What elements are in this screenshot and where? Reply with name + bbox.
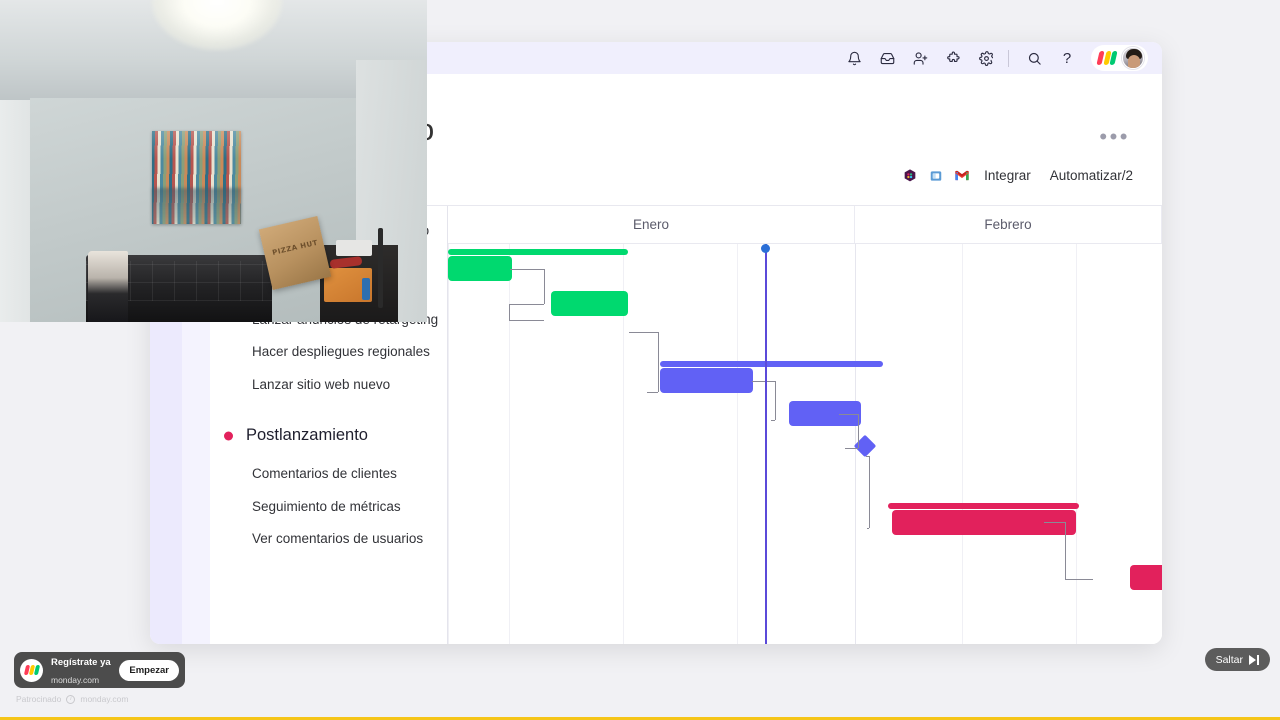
sponsored-label-row: Patrocinado i monday.com: [16, 694, 128, 704]
gantt-group-bar[interactable]: [660, 361, 883, 367]
inbox-icon[interactable]: [872, 43, 902, 73]
gmail-integration-icon[interactable]: [953, 167, 970, 184]
task-label: Comentarios de clientes: [252, 466, 397, 481]
gantt-dependency-line: [869, 456, 870, 528]
gantt-dependency-line: [771, 420, 775, 421]
help-icon[interactable]: ?: [1052, 43, 1082, 73]
gantt-bars-layer: [448, 244, 1162, 644]
webcam-wall-painting: [152, 131, 241, 224]
gantt-task-bar[interactable]: [448, 256, 512, 281]
monday-logo-icon: [1098, 51, 1116, 65]
gantt-dependency-line: [658, 332, 659, 392]
presenter-webcam-feed: PIZZA HUT: [0, 0, 427, 322]
sponsored-label: Patrocinado: [16, 694, 61, 704]
gantt-task-bar[interactable]: [551, 291, 628, 316]
search-icon[interactable]: [1019, 43, 1049, 73]
board-more-menu-button[interactable]: •••: [1099, 126, 1130, 148]
task-list-item[interactable]: Hacer despliegues regionales: [210, 336, 447, 368]
gantt-dependency-line: [752, 381, 775, 382]
gantt-chart[interactable]: EneroFebrero: [448, 206, 1162, 644]
webcam-box-label: PIZZA HUT: [272, 239, 319, 257]
topbar-divider: [1008, 50, 1009, 67]
gantt-dependency-line: [629, 332, 658, 333]
board-actions-row: Integrar Automatizar/2: [901, 166, 1138, 185]
task-label: Ver comentarios de usuarios: [252, 531, 423, 546]
gantt-dependency-line: [1065, 522, 1066, 579]
skip-label: Saltar: [1216, 654, 1243, 666]
webcam-blue-object: [362, 278, 370, 300]
info-icon[interactable]: i: [66, 695, 75, 704]
task-label: Lanzar sitio web nuevo: [252, 377, 390, 392]
ad-title: Regístrate ya: [51, 657, 111, 668]
gantt-today-line: [765, 244, 767, 644]
gantt-today-marker-dot[interactable]: [761, 244, 770, 253]
gantt-dependency-line: [867, 528, 869, 529]
gantt-dependency-line: [839, 414, 858, 415]
slack-integration-icon[interactable]: [901, 167, 918, 184]
task-list-item[interactable]: Comentarios de clientes: [210, 458, 447, 490]
help-glyph: ?: [1063, 50, 1071, 67]
apps-puzzle-icon[interactable]: [938, 43, 968, 73]
avatar[interactable]: [1122, 47, 1144, 69]
gantt-dependency-line: [544, 269, 545, 304]
ad-cta-button[interactable]: Empezar: [119, 660, 179, 681]
gantt-dependency-line: [1065, 579, 1093, 580]
notifications-bell-icon[interactable]: [839, 43, 869, 73]
task-group-header[interactable]: Postlanzamiento: [210, 414, 447, 458]
ad-text-block: Regístrate ya monday.com: [51, 652, 111, 688]
integrate-button[interactable]: Integrar: [979, 166, 1036, 185]
monday-logo-icon: [20, 659, 43, 682]
task-list-item[interactable]: Lanzar sitio web nuevo: [210, 368, 447, 400]
gantt-dependency-line: [510, 269, 544, 270]
group-color-dot: [224, 431, 233, 440]
gantt-dependency-line: [509, 304, 544, 305]
account-pill[interactable]: [1091, 45, 1148, 71]
screen-root: ? ón de producto •••: [0, 0, 1280, 720]
gantt-dependency-line: [1044, 522, 1065, 523]
task-list-item[interactable]: Ver comentarios de usuarios: [210, 522, 447, 554]
gantt-task-bar[interactable]: [660, 368, 753, 393]
webcam-pole: [378, 228, 383, 308]
group-label: Postlanzamiento: [246, 426, 368, 445]
gantt-group-bar[interactable]: [448, 249, 628, 255]
task-label: Seguimiento de métricas: [252, 499, 401, 514]
automate-button[interactable]: Automatizar/2: [1045, 166, 1138, 185]
sponsored-domain[interactable]: monday.com: [80, 694, 128, 704]
gantt-group-bar[interactable]: [888, 503, 1078, 509]
gantt-dependency-line: [845, 448, 858, 449]
task-list-spacer: [210, 401, 447, 414]
settings-gear-icon[interactable]: [971, 43, 1001, 73]
sponsored-ad-widget[interactable]: Regístrate ya monday.com Empezar: [14, 652, 185, 688]
skip-ad-button[interactable]: Saltar: [1205, 648, 1270, 671]
gantt-month-label: Enero: [448, 206, 855, 243]
gantt-dependency-line: [647, 392, 658, 393]
gantt-dependency-line: [858, 414, 859, 448]
task-label: Hacer despliegues regionales: [252, 344, 430, 359]
webcam-sofa-arm: [88, 251, 128, 322]
webcam-shelf-item-white: [336, 240, 372, 256]
gantt-month-label: Febrero: [855, 206, 1162, 243]
gantt-timeline-header: EneroFebrero: [448, 206, 1162, 244]
task-list-item[interactable]: Seguimiento de métricas: [210, 490, 447, 522]
gantt-task-bar[interactable]: [1130, 565, 1162, 590]
invite-member-icon[interactable]: [905, 43, 935, 73]
gantt-dependency-line: [509, 320, 544, 321]
gantt-dependency-line: [509, 304, 510, 320]
gantt-dependency-line: [775, 381, 776, 420]
skip-forward-icon: [1249, 655, 1259, 665]
ad-subtitle: monday.com: [51, 675, 99, 685]
teams-integration-icon[interactable]: [927, 167, 944, 184]
